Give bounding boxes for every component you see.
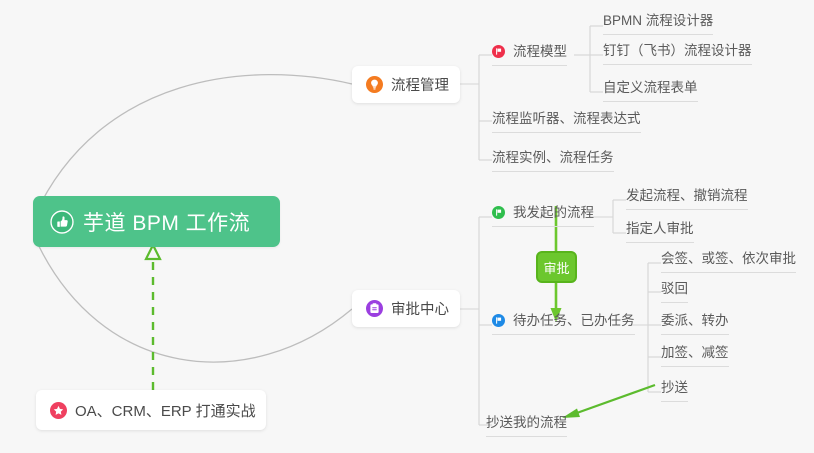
branch-node-liucheng-guanli[interactable]: 流程管理: [352, 66, 460, 103]
flag-icon-red: [492, 45, 505, 58]
node-label-liucheng-moxing: 流程模型: [513, 45, 567, 59]
callout-shenpi[interactable]: 审批: [536, 251, 577, 283]
node-bpmn-designer[interactable]: BPMN 流程设计器: [603, 14, 713, 35]
node-daiban-yiban-renwu[interactable]: 待办任务、已办任务: [492, 314, 635, 335]
lightbulb-icon: [366, 76, 383, 93]
node-bohui[interactable]: 驳回: [661, 282, 688, 303]
node-dingtalk-feishu-designer[interactable]: 钉钉（飞书）流程设计器: [603, 44, 752, 65]
node-chaosong[interactable]: 抄送: [661, 381, 688, 402]
node-zhiding-ren-shenpi[interactable]: 指定人审批: [626, 222, 694, 243]
star-icon: [50, 402, 67, 419]
clipboard-icon: [366, 300, 383, 317]
node-huiqian-huoqian-yici[interactable]: 会签、或签、依次审批: [661, 252, 796, 273]
node-jiaqian-jianqian[interactable]: 加签、减签: [661, 346, 729, 367]
arrow-chaosong: [562, 385, 655, 418]
node-instance-task[interactable]: 流程实例、流程任务: [492, 151, 614, 172]
root-node[interactable]: 芋道 BPM 工作流: [33, 196, 280, 247]
floating-node-oa-crm-erp[interactable]: OA、CRM、ERP 打通实战: [36, 390, 266, 430]
node-listener-expression[interactable]: 流程监听器、流程表达式: [492, 112, 641, 133]
node-weipai-zhuanban[interactable]: 委派、转办: [661, 314, 729, 335]
node-wo-faqi-de-liucheng[interactable]: 我发起的流程: [492, 206, 594, 227]
thumbs-up-icon: [50, 210, 74, 234]
branch-node-shenpi-zhongxin[interactable]: 审批中心: [352, 290, 460, 327]
node-faqi-chexiao[interactable]: 发起流程、撤销流程: [626, 189, 748, 210]
node-custom-form[interactable]: 自定义流程表单: [603, 81, 698, 102]
floating-label-oa-crm-erp: OA、CRM、ERP 打通实战: [75, 400, 256, 421]
flag-icon-blue: [492, 314, 505, 327]
node-label-wo-faqi-de-liucheng: 我发起的流程: [513, 206, 594, 220]
branch-label-shenpi-zhongxin: 审批中心: [391, 298, 449, 319]
mindmap-canvas: 芋道 BPM 工作流 流程管理 审批中心: [0, 0, 814, 453]
flag-icon-green: [492, 206, 505, 219]
branch-label-liucheng-guanli: 流程管理: [391, 74, 449, 95]
node-chaosong-wo-de-liucheng[interactable]: 抄送我的流程: [486, 416, 567, 437]
root-label: 芋道 BPM 工作流: [83, 207, 250, 237]
node-liucheng-moxing[interactable]: 流程模型: [492, 45, 567, 66]
arrow-oa-to-root: [146, 245, 160, 390]
node-label-daiban-yiban-renwu: 待办任务、已办任务: [513, 314, 635, 328]
